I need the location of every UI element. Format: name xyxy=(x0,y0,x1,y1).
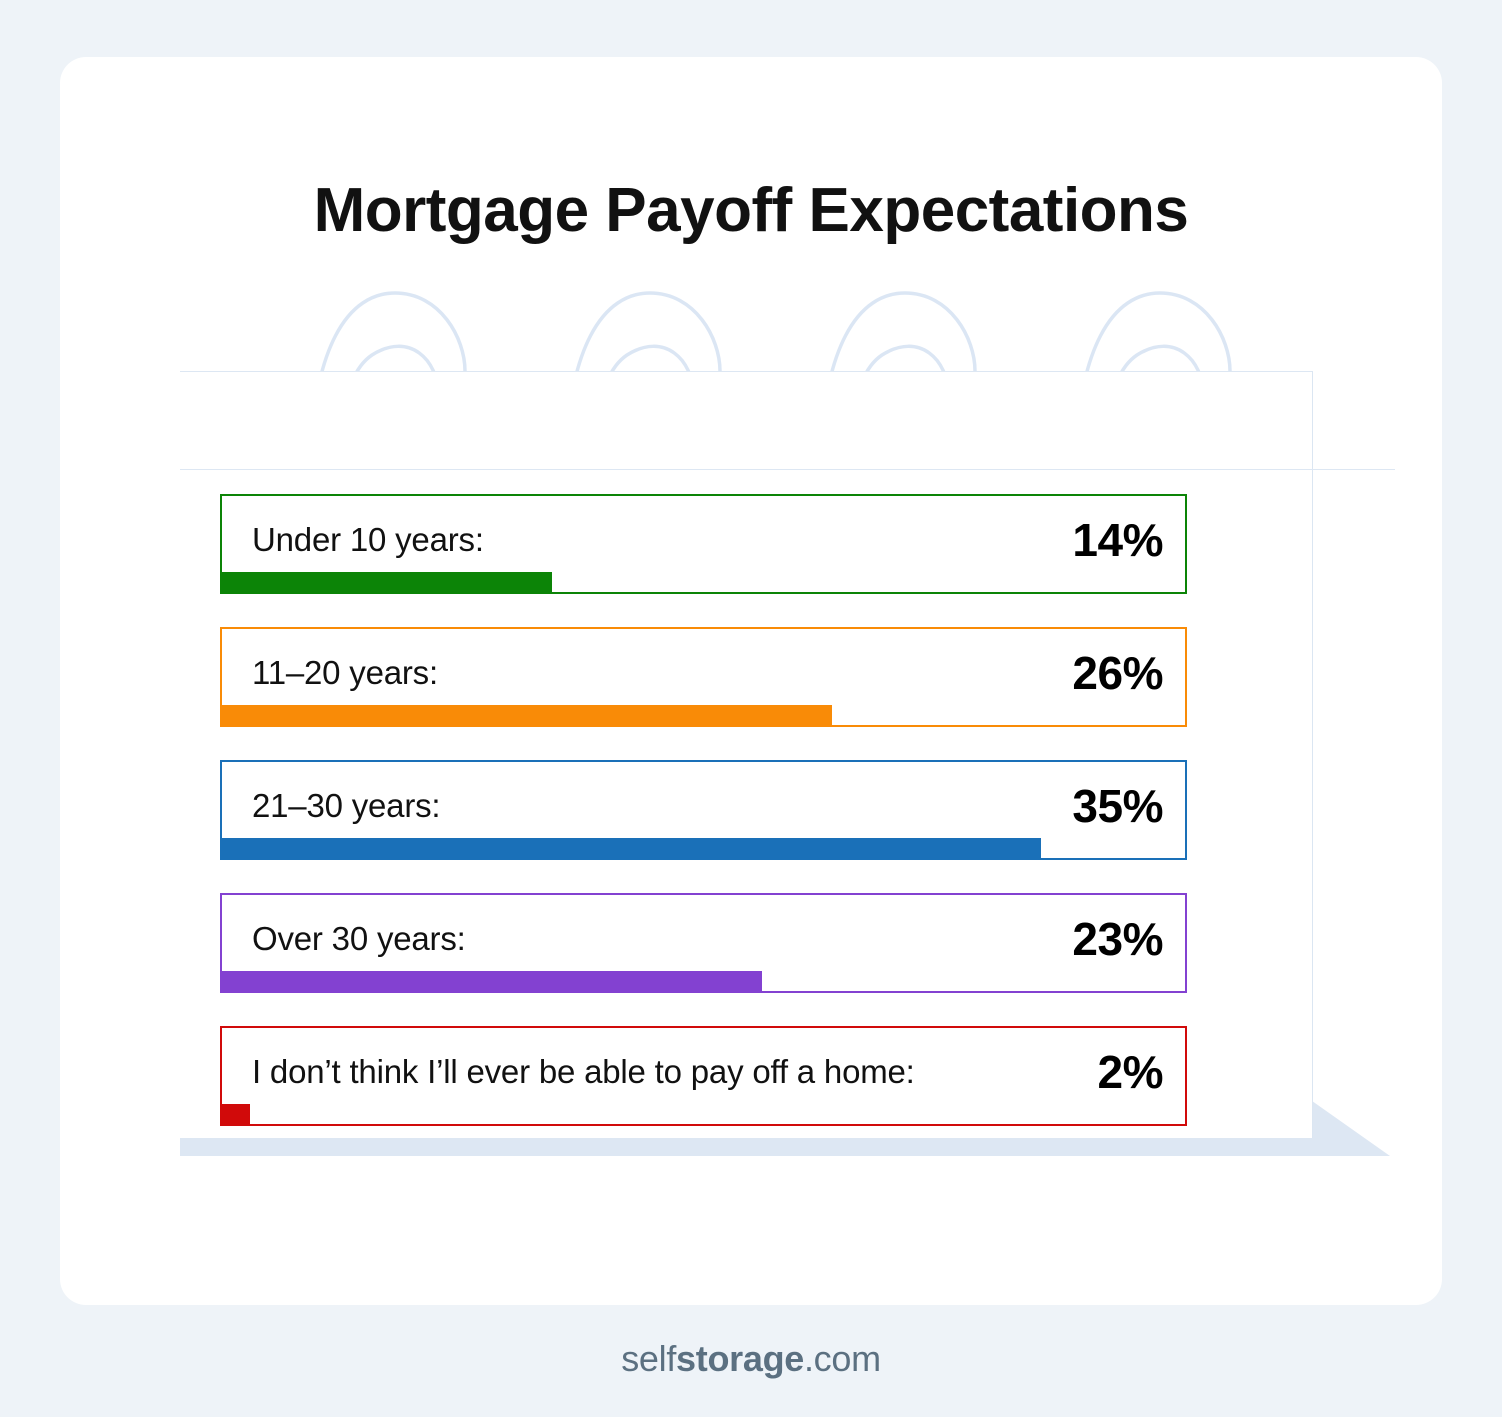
bar-value: 26% xyxy=(1072,646,1163,700)
bar-row[interactable]: Over 30 years: 23% xyxy=(220,893,1187,993)
logo-text-self: self xyxy=(621,1338,676,1379)
bar-row-content: 11–20 years: 26% xyxy=(222,629,1185,725)
logo-text-storage: storage xyxy=(676,1338,804,1379)
bar-row-content: Under 10 years: 14% xyxy=(222,496,1185,592)
bar-row-content: 21–30 years: 35% xyxy=(222,762,1185,858)
bar-chart: Under 10 years: 14% 11–20 years: 26% 21–… xyxy=(220,494,1187,1126)
bar-label: 21–30 years: xyxy=(252,787,440,825)
notepad-illustration: Under 10 years: 14% 11–20 years: 26% 21–… xyxy=(180,283,1395,1203)
bar-row[interactable]: Under 10 years: 14% xyxy=(220,494,1187,594)
bar-label: Under 10 years: xyxy=(252,521,484,559)
bar-row-content: I don’t think I’ll ever be able to pay o… xyxy=(222,1028,1185,1124)
notepad-header-rule xyxy=(180,469,1395,470)
bar-label: 11–20 years: xyxy=(252,654,438,692)
bar-value: 2% xyxy=(1098,1045,1163,1099)
bar-row[interactable]: 21–30 years: 35% xyxy=(220,760,1187,860)
logo-text-com: .com xyxy=(804,1338,881,1379)
bar-label: Over 30 years: xyxy=(252,920,466,958)
bar-value: 14% xyxy=(1072,513,1163,567)
bar-row[interactable]: I don’t think I’ll ever be able to pay o… xyxy=(220,1026,1187,1126)
selfstorage-logo[interactable]: selfstorage.com xyxy=(0,1338,1502,1380)
infographic-card: Mortgage Payoff Expectations xyxy=(60,57,1442,1305)
bar-label: I don’t think I’ll ever be able to pay o… xyxy=(252,1053,915,1091)
page-title: Mortgage Payoff Expectations xyxy=(60,175,1442,246)
bar-row-content: Over 30 years: 23% xyxy=(222,895,1185,991)
bar-value: 35% xyxy=(1072,779,1163,833)
notepad-shadow xyxy=(180,1138,1327,1156)
bar-row[interactable]: 11–20 years: 26% xyxy=(220,627,1187,727)
bar-value: 23% xyxy=(1072,912,1163,966)
